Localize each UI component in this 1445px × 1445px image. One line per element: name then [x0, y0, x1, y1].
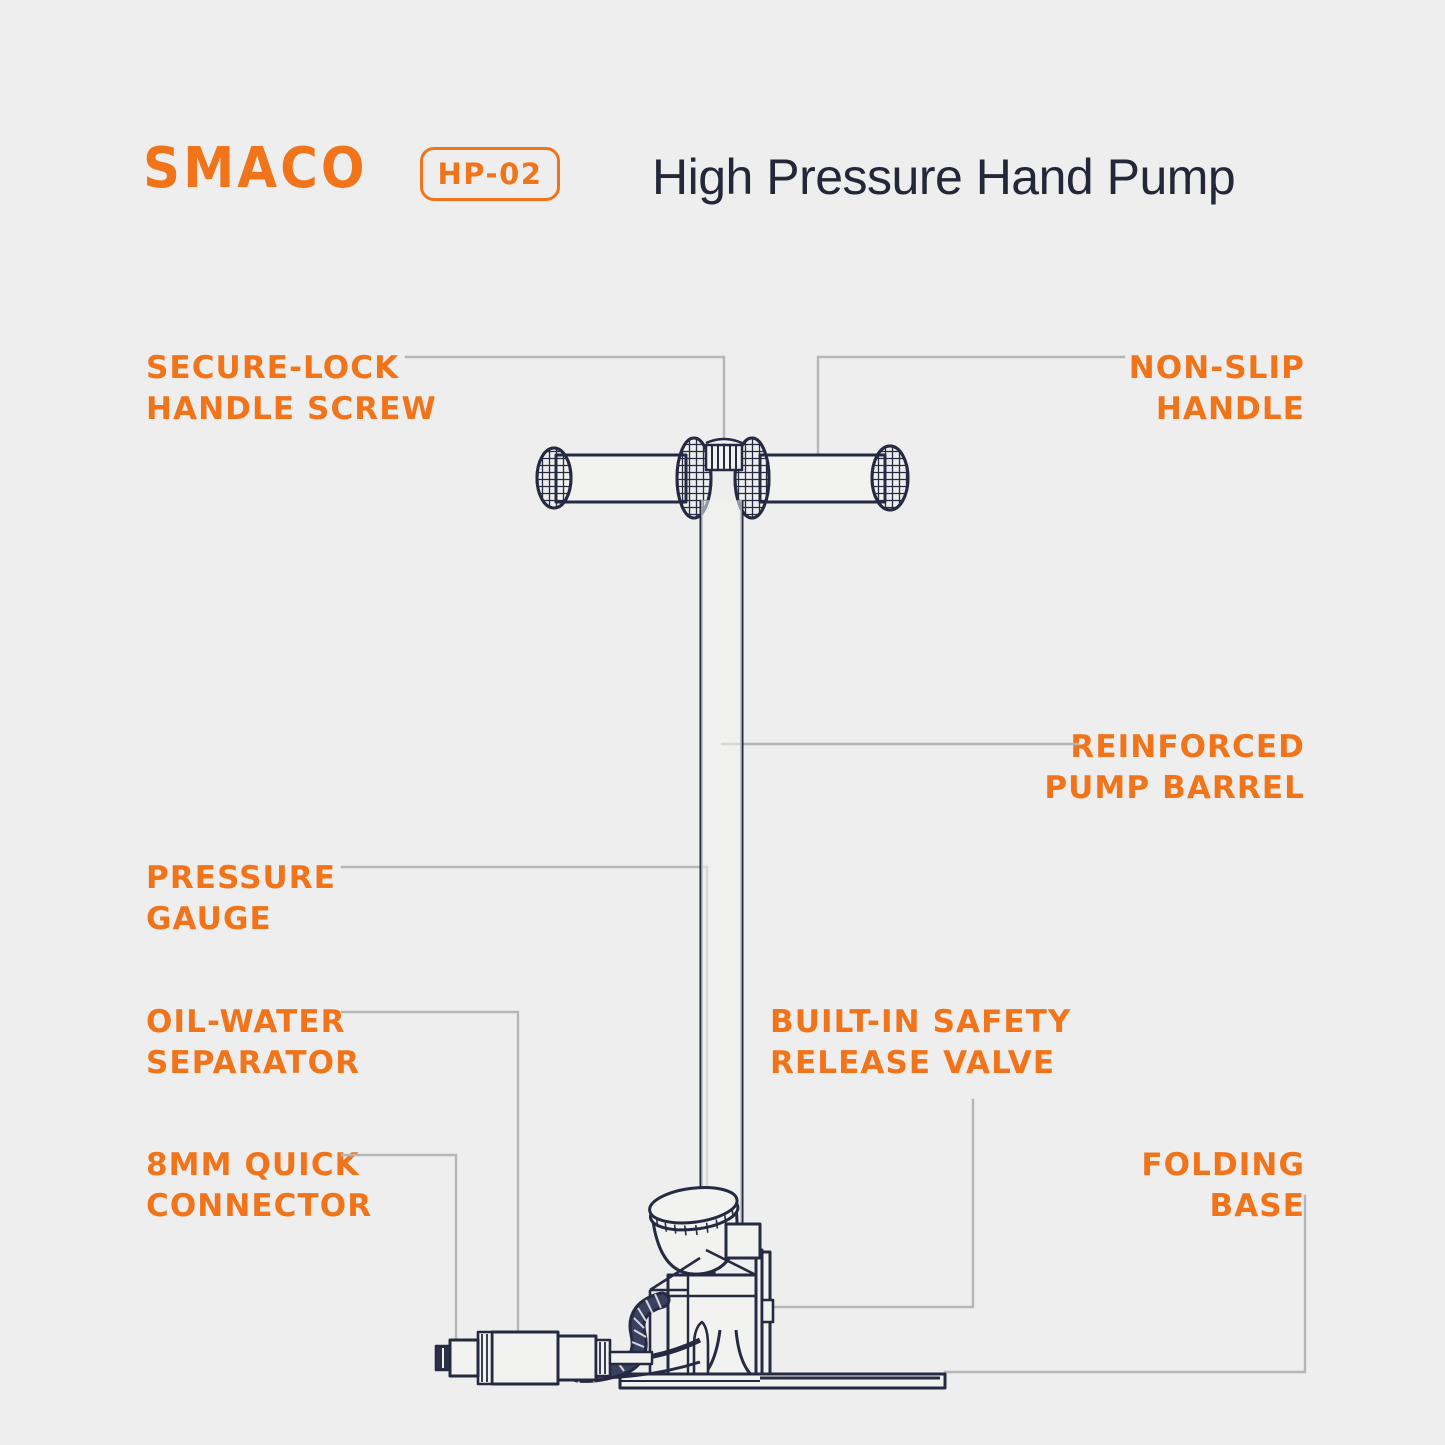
leader-secure-lock: [406, 357, 724, 446]
leader-safety-valve: [770, 1100, 973, 1307]
knurled-handle-grip-right: [872, 446, 908, 510]
product-diagram-page: SMACO HP-02 High Pressure Hand Pump SECU…: [0, 0, 1445, 1445]
safety-release-valve: [762, 1300, 773, 1322]
leader-non-slip-handle: [818, 357, 1124, 462]
t-handle-bar-left: [556, 455, 686, 502]
quick-connector: [436, 1340, 478, 1376]
base-assembly: [436, 1183, 945, 1388]
pump-barrel: [701, 500, 742, 1247]
leader-lines: [342, 357, 1305, 1372]
knurled-handle-grip-left: [537, 448, 571, 508]
leader-oil-water-separator: [342, 1012, 518, 1336]
leader-quick-connector: [342, 1155, 456, 1345]
leader-folding-base: [945, 1196, 1305, 1372]
folding-foot-plate: [620, 1374, 945, 1388]
t-handle-bar-right: [760, 455, 885, 502]
product-illustration: [0, 0, 1445, 1445]
